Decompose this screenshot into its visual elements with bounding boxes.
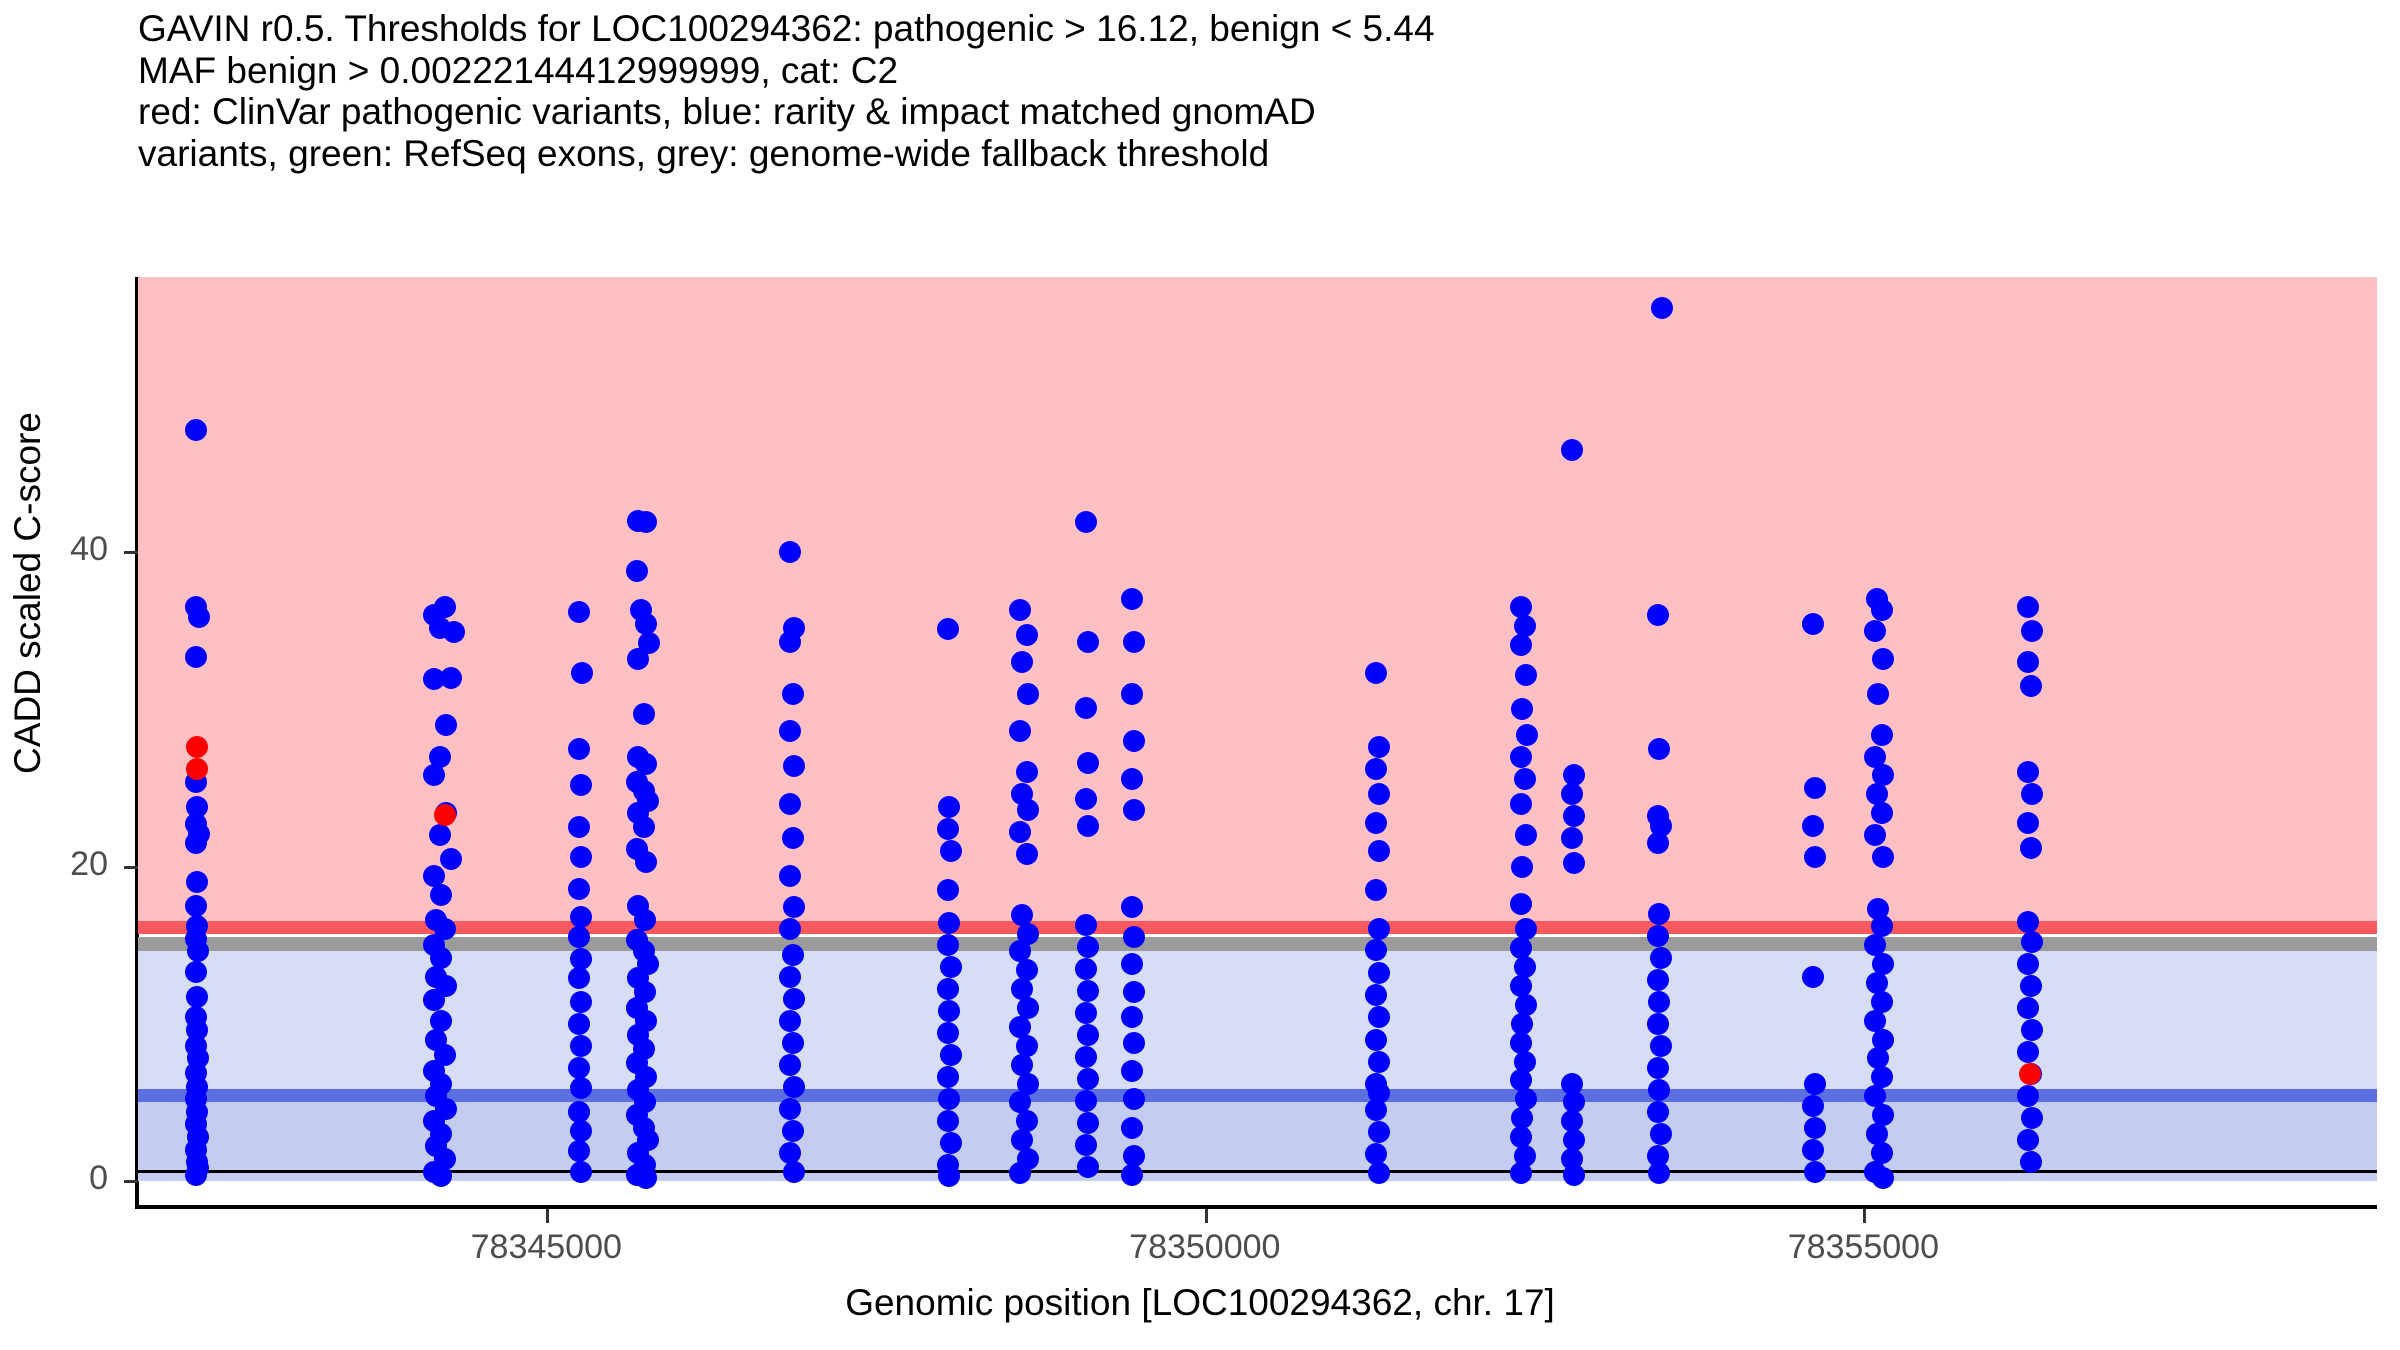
gnomad-point bbox=[1368, 1006, 1390, 1028]
y-tick-label: 0 bbox=[0, 1159, 108, 1198]
gnomad-point bbox=[779, 541, 801, 563]
gnomad-point bbox=[1872, 1167, 1894, 1189]
gnomad-point bbox=[1123, 730, 1145, 752]
gnomad-point bbox=[1077, 1024, 1099, 1046]
gnomad-point bbox=[1368, 840, 1390, 862]
gnomad-point bbox=[937, 978, 959, 1000]
gnomad-point bbox=[1368, 1162, 1390, 1184]
gnomad-point bbox=[1802, 815, 1824, 837]
gnomad-point bbox=[782, 827, 804, 849]
gnomad-point bbox=[2017, 911, 2039, 933]
gnomad-point bbox=[570, 1120, 592, 1142]
gnomad-point bbox=[429, 824, 451, 846]
x-axis-title: Genomic position [LOC100294362, chr. 17] bbox=[0, 1282, 2400, 1324]
gnomad-point bbox=[2017, 1041, 2039, 1063]
gnomad-point bbox=[1871, 599, 1893, 621]
gnomad-point bbox=[2020, 675, 2042, 697]
gnomad-point bbox=[185, 832, 207, 854]
gnomad-point bbox=[626, 560, 648, 582]
gnomad-point bbox=[1510, 1032, 1532, 1054]
gnomad-point bbox=[1077, 936, 1099, 958]
gnomad-point bbox=[1867, 683, 1889, 705]
gnomad-point bbox=[779, 1142, 801, 1164]
gnomad-point bbox=[940, 840, 962, 862]
gnomad-point bbox=[1011, 651, 1033, 673]
gnomad-point bbox=[779, 1010, 801, 1032]
gnomad-point bbox=[2021, 620, 2043, 642]
gnomad-point bbox=[430, 1165, 452, 1187]
gnomad-point bbox=[570, 991, 592, 1013]
gnomad-point bbox=[1075, 697, 1097, 719]
gnomad-point bbox=[1647, 832, 1669, 854]
gnomad-point bbox=[940, 956, 962, 978]
gnomad-point bbox=[2017, 651, 2039, 673]
gnomad-point bbox=[634, 909, 656, 931]
x-tick-label: 78350000 bbox=[1055, 1228, 1355, 1267]
gnomad-point bbox=[570, 1077, 592, 1099]
gnomad-point bbox=[1365, 758, 1387, 780]
gnomad-point bbox=[779, 865, 801, 887]
gnomad-point bbox=[1368, 1121, 1390, 1143]
x-tick-mark bbox=[1863, 1209, 1866, 1223]
gnomad-point bbox=[1804, 1117, 1826, 1139]
gnomad-point bbox=[2017, 953, 2039, 975]
gnomad-point bbox=[1648, 738, 1670, 760]
gnomad-point bbox=[1075, 958, 1097, 980]
gnomad-point bbox=[1872, 648, 1894, 670]
gnomad-point bbox=[1510, 1162, 1532, 1184]
gnomad-point bbox=[2020, 1151, 2042, 1173]
gnomad-point bbox=[1017, 683, 1039, 705]
gnomad-point bbox=[1650, 947, 1672, 969]
gnomad-point bbox=[783, 1076, 805, 1098]
gnomad-point bbox=[188, 606, 210, 628]
gnomad-point bbox=[1647, 1057, 1669, 1079]
gnomad-point bbox=[1563, 1164, 1585, 1186]
x-axis-line bbox=[135, 1205, 2377, 1209]
gnomad-point bbox=[1077, 631, 1099, 653]
gnomad-point bbox=[1647, 1013, 1669, 1035]
gnomad-point bbox=[1650, 1035, 1672, 1057]
gnomad-point bbox=[1368, 962, 1390, 984]
zero-baseline bbox=[138, 1170, 2377, 1173]
y-tick-mark bbox=[124, 551, 138, 554]
gnomad-point bbox=[1365, 1029, 1387, 1051]
gnomad-point bbox=[1648, 991, 1670, 1013]
gnomad-point bbox=[1647, 1101, 1669, 1123]
gnomad-point bbox=[1075, 1002, 1097, 1024]
gnomad-point bbox=[782, 1120, 804, 1142]
gnomad-point bbox=[1871, 802, 1893, 824]
gnomad-point bbox=[2017, 812, 2039, 834]
gnomad-point bbox=[185, 961, 207, 983]
gnomad-point bbox=[1077, 752, 1099, 774]
gnomad-point bbox=[1365, 879, 1387, 901]
gnomad-point bbox=[782, 683, 804, 705]
gnomad-point bbox=[570, 1161, 592, 1183]
gnomad-point bbox=[2020, 837, 2042, 859]
gnomad-point bbox=[1804, 777, 1826, 799]
gnomad-point bbox=[1077, 980, 1099, 1002]
band-benign bbox=[138, 1095, 2377, 1181]
x-tick-mark bbox=[546, 1209, 549, 1223]
gnomad-point bbox=[1075, 1046, 1097, 1068]
gnomad-point bbox=[1365, 812, 1387, 834]
gnomad-point bbox=[635, 1167, 657, 1189]
gnomad-point bbox=[1563, 805, 1585, 827]
gnomad-point bbox=[1563, 852, 1585, 874]
gnomad-point bbox=[1804, 846, 1826, 868]
gnomad-point bbox=[1647, 969, 1669, 991]
gnomad-point bbox=[440, 848, 462, 870]
gnomad-point bbox=[1123, 631, 1145, 653]
gnomad-point bbox=[1368, 918, 1390, 940]
gnomad-point bbox=[1365, 939, 1387, 961]
title-line-3: red: ClinVar pathogenic variants, blue: … bbox=[138, 91, 2378, 133]
gnomad-point bbox=[783, 1161, 805, 1183]
gnomad-point bbox=[1802, 1095, 1824, 1117]
y-tick-mark bbox=[124, 866, 138, 869]
pathogenic-threshold-line bbox=[138, 921, 2377, 934]
x-tick-label: 78345000 bbox=[396, 1228, 696, 1267]
gnomad-point bbox=[1123, 1032, 1145, 1054]
gnomad-point bbox=[2017, 1129, 2039, 1151]
gnomad-point bbox=[2020, 975, 2042, 997]
gnomad-point bbox=[568, 738, 590, 760]
gnomad-point bbox=[1510, 793, 1532, 815]
gnomad-point bbox=[782, 1032, 804, 1054]
gnomad-point bbox=[2017, 997, 2039, 1019]
gnomad-point bbox=[2021, 1019, 2043, 1041]
gnomad-point bbox=[1648, 903, 1670, 925]
gnomad-point bbox=[1802, 1139, 1824, 1161]
gnomad-point bbox=[1515, 664, 1537, 686]
gnomad-point bbox=[1077, 815, 1099, 837]
gnomad-point bbox=[1368, 736, 1390, 758]
gnomad-point bbox=[937, 879, 959, 901]
gnomad-point bbox=[1864, 620, 1886, 642]
band-pathogenic bbox=[138, 277, 2377, 928]
gnomad-point bbox=[779, 631, 801, 653]
gnomad-point bbox=[1648, 1079, 1670, 1101]
gnomad-point bbox=[570, 906, 592, 928]
gnomad-point bbox=[1121, 768, 1143, 790]
gnomad-point bbox=[1516, 724, 1538, 746]
title-line-4: variants, green: RefSeq exons, grey: gen… bbox=[138, 133, 2378, 175]
gnomad-point bbox=[1650, 1123, 1672, 1145]
gnomad-point bbox=[571, 662, 593, 684]
gnomad-point bbox=[2021, 1107, 2043, 1129]
gnomad-point bbox=[2017, 596, 2039, 618]
gnomad-point bbox=[2021, 783, 2043, 805]
gnomad-point bbox=[430, 884, 452, 906]
title-line-1: GAVIN r0.5. Thresholds for LOC100294362:… bbox=[138, 8, 2378, 50]
plot-title-block: GAVIN r0.5. Thresholds for LOC100294362:… bbox=[138, 8, 2378, 174]
gnomad-point bbox=[2017, 1085, 2039, 1107]
gnomad-point bbox=[1510, 634, 1532, 656]
gnomad-point bbox=[779, 1098, 801, 1120]
gnomad-point bbox=[937, 618, 959, 640]
gnomad-point bbox=[1121, 1117, 1143, 1139]
gnomad-point bbox=[1647, 925, 1669, 947]
gnomad-point bbox=[1123, 799, 1145, 821]
gnomad-point bbox=[568, 1057, 590, 1079]
x-tick-label: 78355000 bbox=[1713, 1228, 2013, 1267]
gnomad-point bbox=[783, 988, 805, 1010]
gnomad-point bbox=[570, 1035, 592, 1057]
gnomad-point bbox=[779, 1054, 801, 1076]
gnomad-point bbox=[1016, 843, 1038, 865]
gnomad-point bbox=[782, 944, 804, 966]
clinvar-point bbox=[186, 736, 208, 758]
gnomad-point bbox=[1368, 783, 1390, 805]
gnomad-point bbox=[1804, 1161, 1826, 1183]
gnomad-point bbox=[185, 895, 207, 917]
gnomad-point bbox=[1077, 1112, 1099, 1134]
gnomad-point bbox=[2021, 931, 2043, 953]
gnomad-point bbox=[1121, 1164, 1143, 1186]
gnomad-point bbox=[937, 934, 959, 956]
gnomad-point bbox=[568, 1013, 590, 1035]
gnomad-point bbox=[779, 793, 801, 815]
title-line-2: MAF benign > 0.00222144412999999, cat: C… bbox=[138, 50, 2378, 92]
gnomad-point bbox=[937, 818, 959, 840]
gnomad-point bbox=[1123, 926, 1145, 948]
gnomad-point bbox=[1804, 1073, 1826, 1095]
gnomad-point bbox=[434, 596, 456, 618]
gnomad-point bbox=[1075, 1090, 1097, 1112]
gnomad-point bbox=[1514, 768, 1536, 790]
gnomad-point bbox=[1077, 1068, 1099, 1090]
benign-threshold-line bbox=[138, 1089, 2377, 1102]
clinvar-point bbox=[186, 758, 208, 780]
x-tick-mark bbox=[1205, 1209, 1208, 1223]
gnomad-point bbox=[783, 755, 805, 777]
gnomad-point bbox=[1802, 966, 1824, 988]
gnomad-point bbox=[940, 1044, 962, 1066]
gnomad-point bbox=[1647, 604, 1669, 626]
gnomad-point bbox=[570, 774, 592, 796]
gnomad-point bbox=[1121, 683, 1143, 705]
gnomad-point bbox=[1511, 856, 1533, 878]
plot-panel bbox=[138, 277, 2377, 1181]
gnomad-point bbox=[1077, 1156, 1099, 1178]
gnomad-point bbox=[568, 601, 590, 623]
y-axis-title: CADD scaled C-score bbox=[7, 213, 49, 973]
gnomad-point bbox=[1075, 1134, 1097, 1156]
gnomad-point bbox=[938, 796, 960, 818]
gnomad-point bbox=[633, 703, 655, 725]
gnomad-point bbox=[938, 1165, 960, 1187]
gnomad-point bbox=[1368, 1051, 1390, 1073]
gnomad-point bbox=[185, 419, 207, 441]
gnomad-point bbox=[1510, 746, 1532, 768]
gnomad-point bbox=[940, 1132, 962, 1154]
gnomad-point bbox=[568, 878, 590, 900]
clinvar-point bbox=[434, 804, 456, 826]
gnomad-point bbox=[779, 966, 801, 988]
gnomad-point bbox=[1075, 914, 1097, 936]
y-tick-mark bbox=[124, 1180, 138, 1183]
gnomad-point bbox=[1871, 724, 1893, 746]
